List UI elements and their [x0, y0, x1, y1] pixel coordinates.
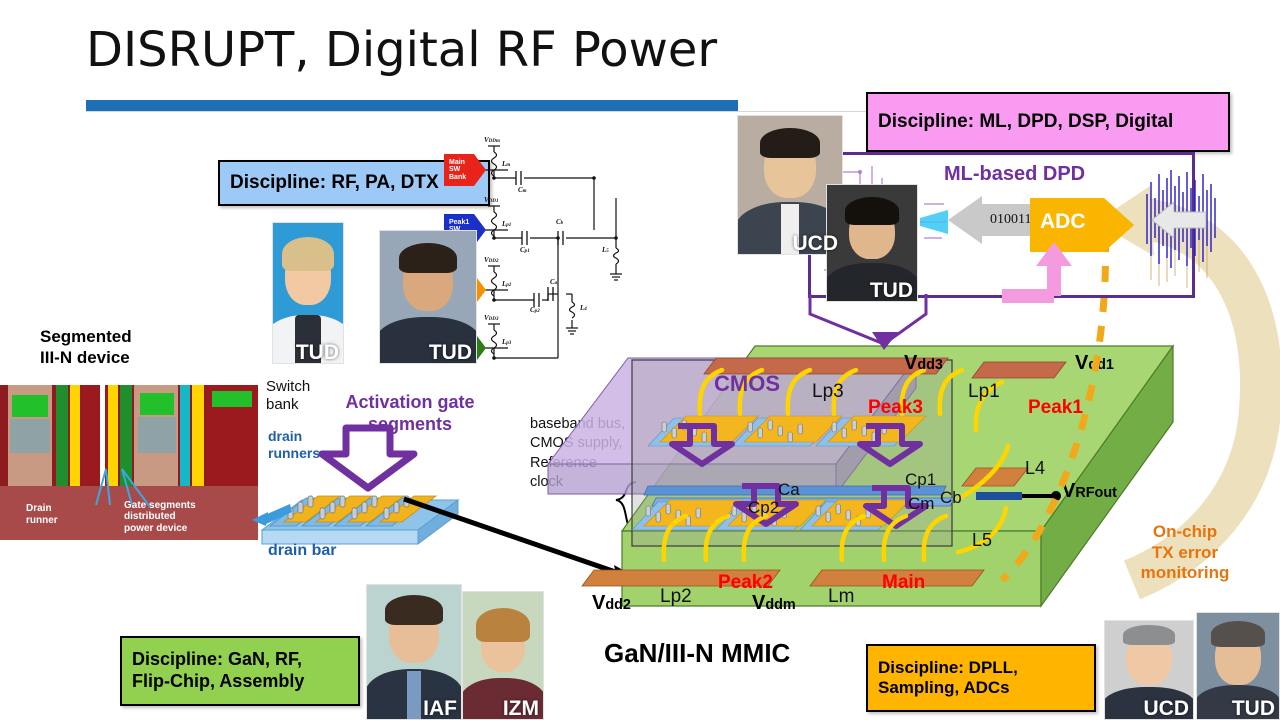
title-rule [86, 100, 738, 111]
cb-label: Cb [940, 488, 962, 508]
l5-label: L5 [972, 530, 992, 551]
vdd2-main: V [592, 592, 605, 614]
lm-label: Lm [828, 586, 854, 608]
switch-bank-line1: Switch [266, 378, 310, 396]
swbank-main-line3: Bank [449, 174, 487, 181]
photo-iaf: IAF [366, 584, 462, 720]
switch-bank-label: Switch bank [266, 378, 310, 414]
discipline-ml-label: Discipline: ML, DPD, DSP, Digital [878, 111, 1173, 134]
discipline-dpll-label-line2: Sampling, ADCs [878, 678, 1018, 698]
photo-ucd-1-tag: UCD [793, 232, 839, 255]
vdd3-main: V [904, 352, 917, 374]
photo-tud-4: TUD [1196, 612, 1280, 720]
onchip-line2: TX error [1110, 543, 1260, 564]
l5-schem-label: L5 [602, 246, 609, 254]
vddm-schem-sub: DDm [489, 139, 500, 144]
activation-gate-line1: Activation gate [322, 392, 498, 414]
lp1-label: Lp1 [968, 381, 1000, 403]
vdd3-sub: dd3 [917, 357, 943, 373]
l4-schem-sub: 4 [584, 307, 587, 312]
ca-label: Ca [778, 480, 800, 500]
vddm-schem-label: VDDm [484, 136, 500, 144]
photo-izm: IZM [462, 591, 544, 720]
vdd2-label: Vdd2 [592, 592, 631, 615]
activation-gate-arrow-icon [318, 424, 426, 494]
vdd1-schem-label: VDD1 [484, 196, 498, 204]
photo-iaf-tag: IAF [423, 697, 457, 720]
switch-bank-line2: bank [266, 396, 310, 414]
cp1-schem-sub: p1 [525, 249, 530, 254]
photo-tud-1: TUD [272, 222, 344, 364]
cp2-schem-label: Cp2 [530, 306, 540, 314]
lm-schem-sub: m [506, 163, 510, 168]
lp1-schem-label: Lp1 [502, 220, 511, 228]
vdd1-schem-sub: DD1 [489, 199, 499, 204]
device-micrograph-image: Drain runner Gate segments distributed p… [0, 385, 258, 540]
drain-bar-label: drain bar [268, 542, 336, 560]
onchip-line3: monitoring [1110, 563, 1260, 584]
ca-schem-label: Ca [550, 278, 557, 286]
segmented-device-line2: III-N device [40, 347, 132, 368]
cmos-label: CMOS [714, 371, 780, 397]
lp3-schem-label: Lp3 [502, 338, 511, 346]
pink-feedback-arrow-icon [996, 238, 1106, 310]
cp1-schem-label: Cp1 [520, 246, 530, 254]
discipline-box-ml: Discipline: ML, DPD, DSP, Digital [866, 92, 1230, 152]
page-title: DISRUPT, Digital RF Power [86, 22, 717, 78]
swbank-main-line2: SW [449, 166, 487, 173]
photo-tud-2-tag: TUD [429, 341, 472, 364]
cp2-label: Cp2 [748, 498, 779, 518]
discipline-box-gan: Discipline: GaN, RF, Flip-Chip, Assembly [120, 636, 360, 706]
segmented-device-line1: Segmented [40, 326, 132, 347]
ml-dpd-title: ML-based DPD [944, 163, 1085, 186]
cm-schem-label: Cm [518, 186, 527, 194]
photo-ucd-2: UCD [1104, 620, 1194, 720]
vdd2-schem-sub: DD2 [489, 259, 499, 264]
lp2-label: Lp2 [660, 586, 692, 608]
swbank-main-line1: Main [449, 159, 487, 166]
vdd2-schem-label: VDD2 [484, 256, 498, 264]
swbank-peak1-line1: Peak1 [449, 219, 487, 226]
discipline-gan-label-line2: Flip-Chip, Assembly [132, 671, 304, 693]
photo-tud-2: TUD [379, 230, 477, 364]
cb-schem-label: Cb [556, 218, 563, 226]
onchip-monitoring-label: On-chip TX error monitoring [1110, 522, 1260, 584]
vddm-label: Vddm [752, 592, 796, 615]
ca-schem-sub: a [555, 281, 558, 286]
vddm-main: V [752, 592, 765, 614]
cb-schem-sub: b [561, 221, 564, 226]
photo-tud-3: TUD [826, 184, 918, 302]
segmented-device-label: Segmented III-N device [40, 326, 132, 369]
l4-schem-label: L4 [580, 304, 587, 312]
swbank-main: Main SW Bank [446, 154, 487, 186]
peak3-label: Peak3 [868, 397, 923, 419]
lp2-schem-sub: p2 [506, 283, 511, 288]
vdd3-schem-label: VDD3 [484, 314, 498, 322]
cm-label: Cm [908, 494, 934, 514]
onchip-line1: On-chip [1110, 522, 1260, 543]
cp1-label: Cp1 [905, 470, 936, 490]
discipline-gan-label-line1: Discipline: GaN, RF, [132, 649, 304, 671]
lm-schem-label: Lm [502, 160, 510, 168]
lp3-label: Lp3 [812, 381, 844, 403]
photo-tud-3-tag: TUD [870, 279, 913, 302]
l5-schem-sub: 5 [606, 249, 609, 254]
photo-tud-4-tag: TUD [1232, 697, 1275, 720]
mmic-name-label: GaN/III-N MMIC [604, 638, 790, 669]
vdd3-label: Vdd3 [904, 352, 943, 375]
cm-schem-sub: m [523, 189, 527, 194]
photo-tud-1-tag: TUD [296, 341, 339, 364]
lp2-schem-label: Lp2 [502, 280, 511, 288]
cp2-schem-sub: p2 [535, 309, 540, 314]
micrograph-pointer-lines [0, 385, 258, 540]
adc-label: ADC [1040, 210, 1086, 234]
vddm-sub: ddm [765, 597, 795, 613]
vdd2-sub: dd2 [605, 597, 631, 613]
photo-ucd-2-tag: UCD [1144, 697, 1190, 720]
rf-spectrum-graphic [1144, 168, 1224, 298]
peak2-label: Peak2 [718, 572, 773, 594]
lp3-schem-sub: p3 [506, 341, 511, 346]
main-label: Main [882, 572, 925, 594]
lp1-schem-sub: p1 [506, 223, 511, 228]
vdd3-schem-sub: DD3 [489, 317, 499, 322]
photo-izm-tag: IZM [503, 697, 539, 720]
discipline-rf-label: Discipline: RF, PA, DTX [230, 172, 439, 195]
